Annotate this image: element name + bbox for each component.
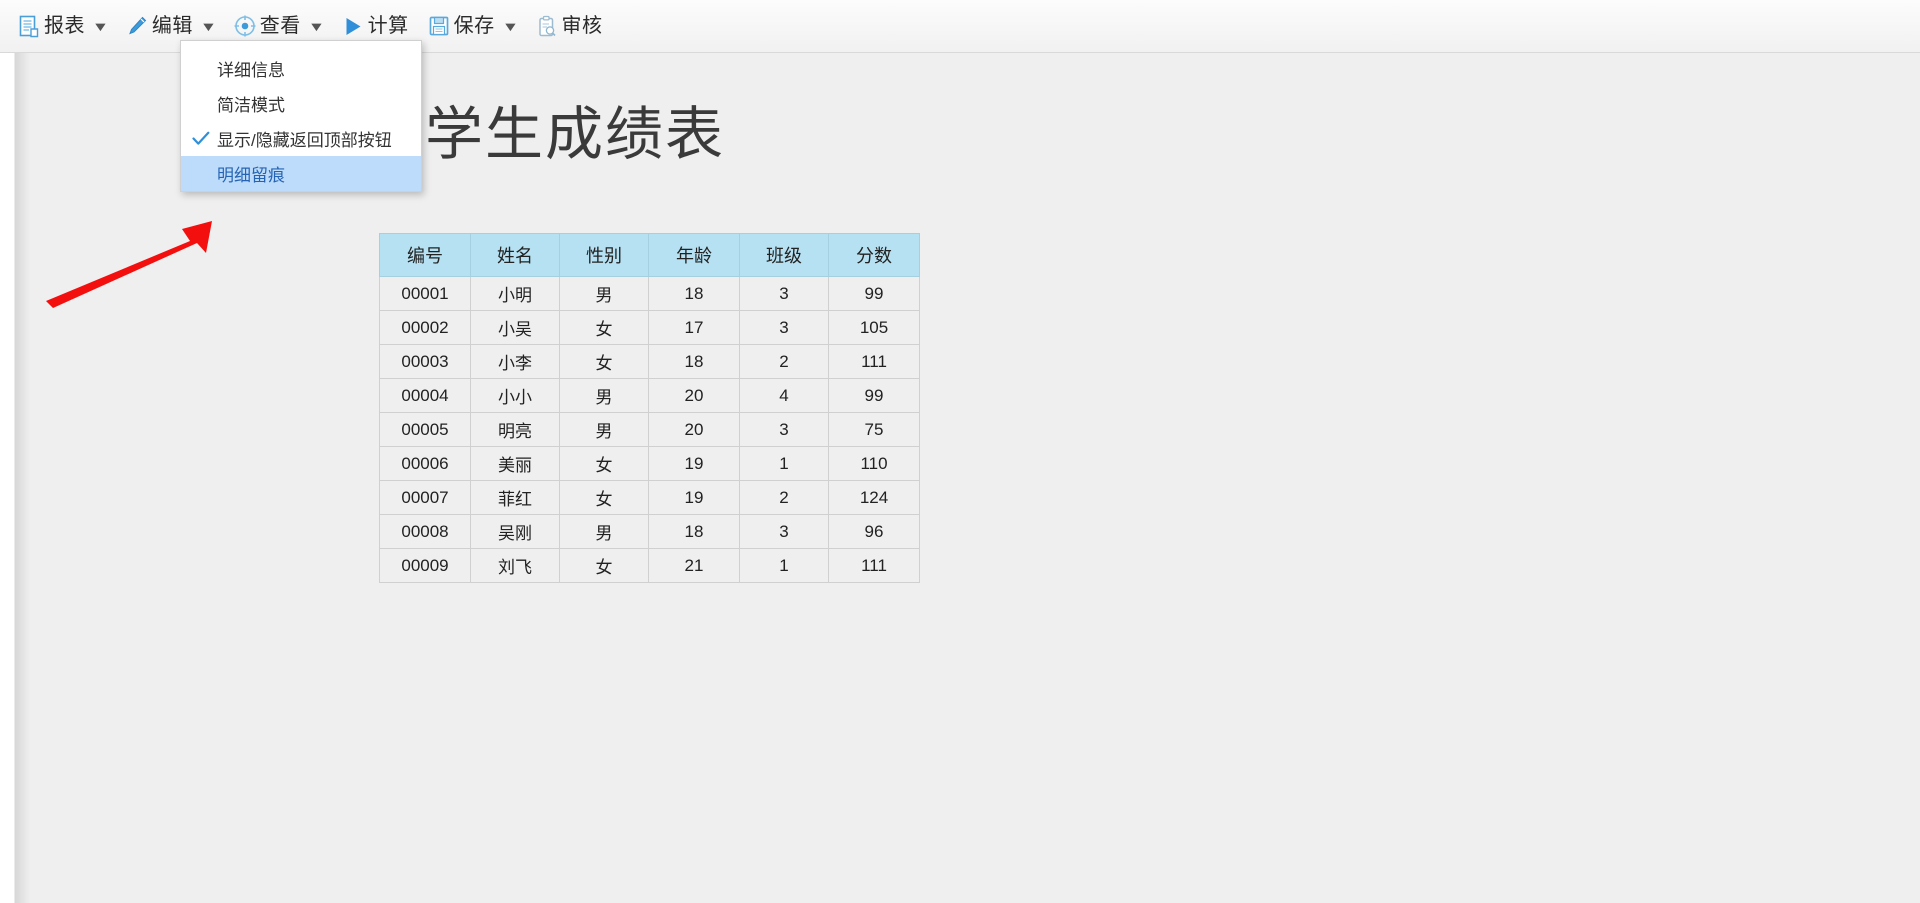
cell-gender[interactable]: 女 [560,345,649,379]
cell-class[interactable]: 3 [740,413,829,447]
cell-age[interactable]: 20 [649,379,740,413]
table-row[interactable]: 00009刘飞女211111 [380,549,920,583]
cell-gender[interactable]: 男 [560,413,649,447]
toolbar-item-report-label: 报表 [44,16,85,36]
cell-score[interactable]: 99 [829,379,920,413]
cell-score[interactable]: 110 [829,447,920,481]
cell-id[interactable]: 00003 [380,345,471,379]
cell-gender[interactable]: 女 [560,447,649,481]
table-header: 编号 姓名 性别 年龄 班级 分数 [380,234,920,277]
chevron-down-icon[interactable]: ▼ [501,20,518,33]
toolbar-item-save[interactable]: 保存 ▼ [418,6,526,46]
column-header-age[interactable]: 年龄 [649,234,740,277]
cell-age[interactable]: 20 [649,413,740,447]
cell-id[interactable]: 00009 [380,549,471,583]
pencil-icon [125,14,149,38]
cell-gender[interactable]: 男 [560,379,649,413]
toolbar-item-report[interactable]: 报表 ▼ [8,6,116,46]
document-icon [17,14,41,38]
toolbar-item-save-label: 保存 [454,16,495,36]
play-icon [341,14,365,38]
toolbar-item-audit-label: 审核 [562,16,603,36]
application-window: 报表 ▼ 编辑 ▼ 查看 ▼ [0,0,1920,903]
column-header-id[interactable]: 编号 [380,234,471,277]
chevron-down-icon[interactable]: ▼ [92,20,109,33]
cell-name[interactable]: 刘飞 [471,549,560,583]
chevron-down-icon[interactable]: ▼ [200,20,217,33]
column-header-class[interactable]: 班级 [740,234,829,277]
cell-class[interactable]: 1 [740,549,829,583]
cell-gender[interactable]: 男 [560,515,649,549]
table-row[interactable]: 00007菲红女192124 [380,481,920,515]
cell-class[interactable]: 3 [740,311,829,345]
toolbar-item-view-label: 查看 [260,16,301,36]
cell-id[interactable]: 00008 [380,515,471,549]
cell-gender[interactable]: 女 [560,311,649,345]
table-row[interactable]: 00002小吴女173105 [380,311,920,345]
toolbar-item-audit[interactable]: 审核 [526,6,612,46]
floppy-disk-icon [427,14,451,38]
cell-age[interactable]: 18 [649,277,740,311]
cell-gender[interactable]: 女 [560,549,649,583]
cell-class[interactable]: 2 [740,345,829,379]
menu-item-label: 简洁模式 [217,91,285,116]
cell-score[interactable]: 111 [829,345,920,379]
red-arrow-annotation [40,213,240,323]
cell-class[interactable]: 3 [740,515,829,549]
cell-id[interactable]: 00006 [380,447,471,481]
student-score-table: 编号 姓名 性别 年龄 班级 分数 00001小明男1839900002小吴女1… [379,233,920,583]
cell-id[interactable]: 00001 [380,277,471,311]
menu-item-detail-info[interactable]: 详细信息 [181,51,421,86]
cell-age[interactable]: 18 [649,515,740,549]
cell-name[interactable]: 小小 [471,379,560,413]
cell-age[interactable]: 18 [649,345,740,379]
table-row[interactable]: 00001小明男18399 [380,277,920,311]
cell-class[interactable]: 3 [740,277,829,311]
cell-id[interactable]: 00004 [380,379,471,413]
menu-item-label: 明细留痕 [217,161,285,186]
cell-score[interactable]: 75 [829,413,920,447]
cell-gender[interactable]: 女 [560,481,649,515]
cell-gender[interactable]: 男 [560,277,649,311]
cell-name[interactable]: 明亮 [471,413,560,447]
toolbar-item-calculate-label: 计算 [368,16,409,36]
table-row[interactable]: 00006美丽女191110 [380,447,920,481]
table-row[interactable]: 00004小小男20499 [380,379,920,413]
toolbar-item-edit-label: 编辑 [152,16,193,36]
cell-class[interactable]: 2 [740,481,829,515]
student-score-table-container: 编号 姓名 性别 年龄 班级 分数 00001小明男1839900002小吴女1… [379,233,920,583]
cell-name[interactable]: 小李 [471,345,560,379]
cell-score[interactable]: 96 [829,515,920,549]
cell-name[interactable]: 小明 [471,277,560,311]
cell-age[interactable]: 21 [649,549,740,583]
cell-age[interactable]: 19 [649,481,740,515]
cell-name[interactable]: 吴刚 [471,515,560,549]
target-icon [233,14,257,38]
cell-class[interactable]: 4 [740,379,829,413]
column-header-gender[interactable]: 性别 [560,234,649,277]
cell-id[interactable]: 00005 [380,413,471,447]
column-header-score[interactable]: 分数 [829,234,920,277]
cell-score[interactable]: 99 [829,277,920,311]
table-body: 00001小明男1839900002小吴女17310500003小李女18211… [380,277,920,583]
cell-score[interactable]: 105 [829,311,920,345]
menu-item-toggle-back-to-top-button[interactable]: 显示/隐藏返回顶部按钮 [181,121,421,156]
menu-item-label: 显示/隐藏返回顶部按钮 [217,126,392,151]
table-row[interactable]: 00003小李女182111 [380,345,920,379]
page-title: 学生成绩表 [0,100,1150,170]
table-row[interactable]: 00005明亮男20375 [380,413,920,447]
menu-item-label: 详细信息 [217,56,285,81]
cell-score[interactable]: 111 [829,549,920,583]
view-dropdown-menu: 详细信息简洁模式显示/隐藏返回顶部按钮明细留痕 [180,40,422,192]
menu-item-simple-mode[interactable]: 简洁模式 [181,86,421,121]
checkmark-icon [192,130,210,148]
clipboard-check-icon [535,14,559,38]
cell-age[interactable]: 19 [649,447,740,481]
cell-id[interactable]: 00002 [380,311,471,345]
chevron-down-icon[interactable]: ▼ [307,20,324,33]
cell-name[interactable]: 美丽 [471,447,560,481]
cell-age[interactable]: 17 [649,311,740,345]
column-header-name[interactable]: 姓名 [471,234,560,277]
cell-class[interactable]: 1 [740,447,829,481]
cell-name[interactable]: 小吴 [471,311,560,345]
cell-score[interactable]: 124 [829,481,920,515]
cell-name[interactable]: 菲红 [471,481,560,515]
table-row[interactable]: 00008吴刚男18396 [380,515,920,549]
cell-id[interactable]: 00007 [380,481,471,515]
table-header-row: 编号 姓名 性别 年龄 班级 分数 [380,234,920,277]
menu-item-detail-trace[interactable]: 明细留痕 [181,156,421,191]
